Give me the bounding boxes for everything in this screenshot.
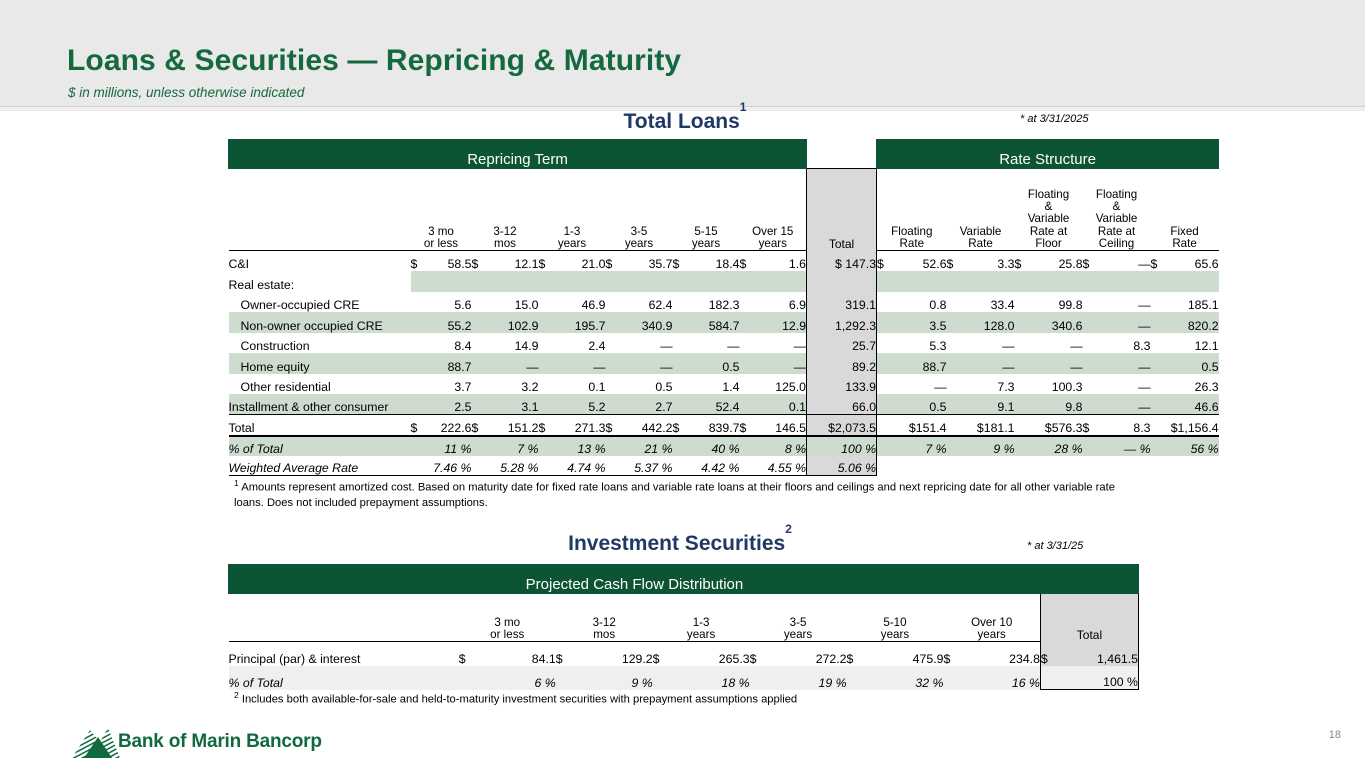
securities-row-label-header xyxy=(229,594,459,642)
row-1-rate-0 xyxy=(889,271,947,292)
row-2-repricing-1: 15.0 xyxy=(484,292,539,313)
loans-col-header-4: 5-15years xyxy=(673,169,740,251)
row-3-rate-3: — xyxy=(1093,312,1151,333)
row-0-currency-0: $ xyxy=(411,251,427,272)
row-5-repricing-4: 0.5 xyxy=(685,353,740,374)
row-2-rate-currency-4 xyxy=(1151,292,1161,313)
row-2-rate-currency-3 xyxy=(1083,292,1093,313)
row-1-repricing-5 xyxy=(752,271,807,292)
row-3-repricing-5: 12.9 xyxy=(752,312,807,333)
loans-war-repricing-2: 4.74 % xyxy=(551,456,606,476)
row-7-rate-2: 9.8 xyxy=(1025,394,1083,415)
row-2-rate-currency-0 xyxy=(877,292,889,313)
table-row: Owner-occupied CRE5.615.046.962.4182.36.… xyxy=(229,292,1219,313)
loans-war-rate-pad-3 xyxy=(1083,456,1093,476)
securities-row-0-total-currency: $ xyxy=(1040,642,1058,666)
loans-war-repricing-4: 4.42 % xyxy=(685,456,740,476)
loans-pct-total: 100 % xyxy=(807,436,877,456)
loans-total-rate-3: 8.3 xyxy=(1093,415,1151,436)
row-6-currency-2 xyxy=(539,374,551,395)
securities-row-1-total-currency xyxy=(1040,666,1058,690)
securities-col-header-3: 3-5years xyxy=(750,594,847,642)
row-6-rate-0: — xyxy=(889,374,947,395)
loans-pct-pad-1 xyxy=(472,436,484,456)
loans-pct-rate-pad-0 xyxy=(877,436,889,456)
row-3-currency-2 xyxy=(539,312,551,333)
row-1-rate-currency-4 xyxy=(1151,271,1161,292)
loans-col-header-5: Over 15years xyxy=(740,169,807,251)
row-7-currency-4 xyxy=(673,394,685,415)
row-7-rate-1: 9.1 xyxy=(957,394,1015,415)
loans-rate-header-2: Floating&VariableRate atFloor xyxy=(1015,169,1083,251)
row-4-rate-1: — xyxy=(957,333,1015,354)
table-row: C&I$58.5$12.1$21.0$35.7$18.4$1.6$ 147.3$… xyxy=(229,251,1219,272)
securities-row-0-value-1: 129.2 xyxy=(580,642,653,666)
row-5-rate-0: 88.7 xyxy=(889,353,947,374)
securities-row-0-currency-4: $ xyxy=(847,642,871,666)
row-label: Real estate: xyxy=(229,271,411,292)
loans-war-total: 5.06 % xyxy=(807,456,877,476)
row-3-repricing-3: 340.9 xyxy=(618,312,673,333)
band-repricing-term: Repricing Term xyxy=(229,140,807,169)
row-0-currency-5: $ xyxy=(740,251,752,272)
row-0-currency-1: $ xyxy=(472,251,484,272)
loans-col-header-1: 3-12mos xyxy=(472,169,539,251)
row-2-rate-3: — xyxy=(1093,292,1151,313)
row-7-repricing-4: 52.4 xyxy=(685,394,740,415)
loans-band-row: Repricing Term Rate Structure xyxy=(229,140,1219,169)
securities-col-header-5: Over 10years xyxy=(943,594,1040,642)
loans-pct-repricing-3: 21 % xyxy=(618,436,673,456)
row-label: Home equity xyxy=(229,353,411,374)
row-5-currency-1 xyxy=(472,353,484,374)
row-3-repricing-2: 195.7 xyxy=(551,312,606,333)
row-3-rate-currency-4 xyxy=(1151,312,1161,333)
row-3-currency-1 xyxy=(472,312,484,333)
loans-total-currency-0: $ xyxy=(411,415,427,436)
row-3-currency-3 xyxy=(606,312,618,333)
securities-row-1-value-4: 32 % xyxy=(871,666,944,690)
securities-row-1-currency-4 xyxy=(847,666,871,690)
row-6-repricing-2: 0.1 xyxy=(551,374,606,395)
row-0-repricing-1: 12.1 xyxy=(484,251,539,272)
row-0-currency-2: $ xyxy=(539,251,551,272)
row-1-rate-currency-2 xyxy=(1015,271,1025,292)
row-6-rate-currency-1 xyxy=(947,374,957,395)
table-row: % of Total6 %9 %18 %19 %32 %16 %100 % xyxy=(229,666,1139,690)
row-1-rate-4 xyxy=(1161,271,1219,292)
row-7-total: 66.0 xyxy=(807,394,877,415)
securities-footnote: 2 Includes both available-for-sale and h… xyxy=(234,690,1144,708)
loans-total-repricing-5: 146.5 xyxy=(752,415,807,436)
row-4-rate-4: 12.1 xyxy=(1161,333,1219,354)
row-7-currency-0 xyxy=(411,394,427,415)
row-label: C&I xyxy=(229,251,411,272)
loans-pct-pad-2 xyxy=(539,436,551,456)
loans-total-rate-currency-3: $ xyxy=(1083,415,1093,436)
row-6-rate-1: 7.3 xyxy=(957,374,1015,395)
row-6-rate-2: 100.3 xyxy=(1025,374,1083,395)
row-3-rate-currency-1 xyxy=(947,312,957,333)
band-projected-cash-flow: Projected Cash Flow Distribution xyxy=(229,565,1041,594)
row-0-rate-currency-1: $ xyxy=(947,251,957,272)
loans-war-repricing-0: 7.46 % xyxy=(427,456,472,476)
row-5-repricing-2: — xyxy=(551,353,606,374)
securities-col-header-0: 3 moor less xyxy=(459,594,556,642)
row-2-rate-4: 185.1 xyxy=(1161,292,1219,313)
row-3-rate-4: 820.2 xyxy=(1161,312,1219,333)
row-3-repricing-0: 55.2 xyxy=(427,312,472,333)
row-3-rate-2: 340.6 xyxy=(1025,312,1083,333)
row-7-currency-1 xyxy=(472,394,484,415)
loans-col-header-0: 3 moor less xyxy=(411,169,472,251)
row-0-currency-3: $ xyxy=(606,251,618,272)
total-loans-title: Total Loans1 xyxy=(585,109,785,134)
securities-row-0-value-0: 84.1 xyxy=(483,642,556,666)
row-5-currency-4 xyxy=(673,353,685,374)
row-5-rate-1: — xyxy=(957,353,1015,374)
loans-pct-repricing-5: 8 % xyxy=(752,436,807,456)
row-2-rate-currency-2 xyxy=(1015,292,1025,313)
row-7-rate-currency-4 xyxy=(1151,394,1161,415)
loans-war-repricing-5: 4.55 % xyxy=(752,456,807,476)
row-3-currency-5 xyxy=(740,312,752,333)
row-5-currency-0 xyxy=(411,353,427,374)
row-0-repricing-0: 58.5 xyxy=(427,251,472,272)
table-row: Real estate: xyxy=(229,271,1219,292)
loans-total-rate-2: $576.3 xyxy=(1025,415,1083,436)
securities-row-1-currency-1 xyxy=(556,666,580,690)
loans-pct-rate-pad-3 xyxy=(1083,436,1093,456)
loans-war-repricing-1: 5.28 % xyxy=(484,456,539,476)
loans-total-rate-currency-0 xyxy=(877,415,889,436)
row-5-rate-currency-2 xyxy=(1015,353,1025,374)
row-label: Non-owner occupied CRE xyxy=(229,312,411,333)
row-3-repricing-1: 102.9 xyxy=(484,312,539,333)
loans-pct-repricing-2: 13 % xyxy=(551,436,606,456)
total-loans-asof: * at 3/31/2025 xyxy=(1020,113,1089,125)
row-5-rate-currency-1 xyxy=(947,353,957,374)
investment-securities-title-text: Investment Securities xyxy=(568,532,785,555)
row-1-total xyxy=(807,271,877,292)
loans-col-header-3: 3-5years xyxy=(606,169,673,251)
securities-footnote-text: Includes both available-for-sale and hel… xyxy=(242,694,797,706)
row-6-rate-3: — xyxy=(1093,374,1151,395)
securities-col-header-4: 5-10years xyxy=(847,594,944,642)
loans-row-label-header xyxy=(229,169,411,251)
loans-war-pad-3 xyxy=(606,456,618,476)
loans-table-body: C&I$58.5$12.1$21.0$35.7$18.4$1.6$ 147.3$… xyxy=(229,251,1219,476)
row-7-rate-3: — xyxy=(1093,394,1151,415)
row-2-repricing-0: 5.6 xyxy=(427,292,472,313)
loans-pct-repricing-1: 7 % xyxy=(484,436,539,456)
row-4-repricing-5: — xyxy=(752,333,807,354)
row-2-currency-5 xyxy=(740,292,752,313)
row-4-rate-3: 8.3 xyxy=(1093,333,1151,354)
row-7-repricing-1: 3.1 xyxy=(484,394,539,415)
securities-col-header-2: 1-3years xyxy=(653,594,750,642)
row-2-currency-2 xyxy=(539,292,551,313)
loans-total-rate-currency-4 xyxy=(1151,415,1161,436)
table-row: Principal (par) & interest$84.1$129.2$26… xyxy=(229,642,1139,666)
band-rate-structure: Rate Structure xyxy=(877,140,1219,169)
row-2-repricing-4: 182.3 xyxy=(685,292,740,313)
loans-pct-label: % of Total xyxy=(229,436,411,456)
row-0-repricing-5: 1.6 xyxy=(752,251,807,272)
row-2-currency-0 xyxy=(411,292,427,313)
page-title: Loans & Securities — Repricing & Maturit… xyxy=(67,44,681,78)
row-5-repricing-1: — xyxy=(484,353,539,374)
loans-total-label: Total xyxy=(229,415,411,436)
row-6-currency-3 xyxy=(606,374,618,395)
loans-war-rate-pad-4 xyxy=(1151,456,1161,476)
securities-row-1-value-3: 19 % xyxy=(774,666,847,690)
row-7-currency-2 xyxy=(539,394,551,415)
row-label: Installment & other consumer xyxy=(229,394,411,415)
row-6-rate-currency-4 xyxy=(1151,374,1161,395)
loans-pct-pad-4 xyxy=(673,436,685,456)
investment-securities-title-superscript: 2 xyxy=(785,522,792,536)
row-4-rate-currency-0 xyxy=(877,333,889,354)
row-5-rate-currency-3 xyxy=(1083,353,1093,374)
row-1-rate-currency-0 xyxy=(877,271,889,292)
row-6-repricing-5: 125.0 xyxy=(752,374,807,395)
securities-row-1-label: % of Total xyxy=(229,666,459,690)
investment-securities-table: Projected Cash Flow Distribution 3 moor … xyxy=(228,564,1139,690)
row-4-currency-1 xyxy=(472,333,484,354)
securities-row-1-value-0: 6 % xyxy=(483,666,556,690)
loans-total-rate-0: $151.4 xyxy=(889,415,947,436)
securities-row-1-value-5: 16 % xyxy=(968,666,1041,690)
loans-total-row: Total$222.6$151.2$271.3$442.2$839.7$146.… xyxy=(229,415,1219,436)
loans-total-rate-currency-1 xyxy=(947,415,957,436)
loans-war-rate-pad-1 xyxy=(947,456,957,476)
row-0-rate-3: — xyxy=(1093,251,1151,272)
loans-war-rate-4 xyxy=(1161,456,1219,476)
row-2-rate-currency-1 xyxy=(947,292,957,313)
securities-row-0-currency-3: $ xyxy=(750,642,774,666)
row-0-rate-4: 65.6 xyxy=(1161,251,1219,272)
securities-footnote-superscript: 2 xyxy=(234,690,239,700)
row-7-repricing-5: 0.1 xyxy=(752,394,807,415)
row-7-currency-5 xyxy=(740,394,752,415)
row-4-currency-5 xyxy=(740,333,752,354)
row-2-total: 319.1 xyxy=(807,292,877,313)
securities-row-0-currency-5: $ xyxy=(943,642,967,666)
page-number: 18 xyxy=(1329,729,1341,741)
loans-war-rate-2 xyxy=(1025,456,1083,476)
loans-war-pad-1 xyxy=(472,456,484,476)
loans-war-rate-3 xyxy=(1093,456,1151,476)
row-5-repricing-3: — xyxy=(618,353,673,374)
row-7-rate-4: 46.6 xyxy=(1161,394,1219,415)
row-3-rate-0: 3.5 xyxy=(889,312,947,333)
page-subtitle: $ in millions, unless otherwise indicate… xyxy=(68,85,304,100)
row-5-currency-2 xyxy=(539,353,551,374)
row-7-repricing-2: 5.2 xyxy=(551,394,606,415)
row-0-rate-0: 52.6 xyxy=(889,251,947,272)
row-label: Other residential xyxy=(229,374,411,395)
investment-securities-title: Investment Securities2 xyxy=(530,531,830,556)
row-5-repricing-0: 88.7 xyxy=(427,353,472,374)
row-1-rate-3 xyxy=(1093,271,1151,292)
row-4-repricing-1: 14.9 xyxy=(484,333,539,354)
row-0-rate-currency-0: $ xyxy=(877,251,889,272)
row-1-repricing-2 xyxy=(551,271,606,292)
row-2-repricing-5: 6.9 xyxy=(752,292,807,313)
securities-row-1-currency-5 xyxy=(943,666,967,690)
table-row: Home equity88.7———0.5—89.288.7———0.5 xyxy=(229,353,1219,374)
loans-rate-header-4: FixedRate xyxy=(1151,169,1219,251)
loans-pct-row: % of Total11 %7 %13 %21 %40 %8 %100 %7 %… xyxy=(229,436,1219,456)
row-1-repricing-0 xyxy=(427,271,472,292)
loans-total-currency-2: $ xyxy=(539,415,551,436)
band-projected-cash-flow-right xyxy=(1040,565,1138,594)
row-0-repricing-4: 18.4 xyxy=(685,251,740,272)
securities-col-header-1: 3-12mos xyxy=(556,594,653,642)
row-2-rate-2: 99.8 xyxy=(1025,292,1083,313)
loans-pct-rate-pad-4 xyxy=(1151,436,1161,456)
row-2-currency-4 xyxy=(673,292,685,313)
loans-pct-rate-2: 28 % xyxy=(1025,436,1083,456)
investment-securities-asof: * at 3/31/25 xyxy=(1027,540,1083,552)
loans-pct-rate-1: 9 % xyxy=(957,436,1015,456)
loans-footnote-superscript: 1 xyxy=(234,478,239,488)
loans-war-pad-5 xyxy=(740,456,752,476)
securities-total-header: Total xyxy=(1040,594,1138,642)
row-6-rate-currency-2 xyxy=(1015,374,1025,395)
loans-grand-total: $2,073.5 xyxy=(807,415,877,436)
row-6-rate-currency-3 xyxy=(1083,374,1093,395)
row-7-rate-currency-2 xyxy=(1015,394,1025,415)
row-2-currency-3 xyxy=(606,292,618,313)
loans-war-label: Weighted Average Rate xyxy=(229,456,411,476)
row-4-currency-0 xyxy=(411,333,427,354)
securities-row-1-total: 100 % xyxy=(1059,666,1139,690)
loans-total-header: Total xyxy=(807,169,877,251)
loans-pct-rate-pad-1 xyxy=(947,436,957,456)
loans-footnote: 1 Amounts represent amortized cost. Base… xyxy=(234,478,1144,511)
securities-row-1-value-1: 9 % xyxy=(580,666,653,690)
row-0-rate-currency-2: $ xyxy=(1015,251,1025,272)
row-2-rate-0: 0.8 xyxy=(889,292,947,313)
securities-row-0-value-5: 234.8 xyxy=(968,642,1041,666)
loans-column-header-row: 3 moor less 3-12mos 1-3years 3-5years 5-… xyxy=(229,169,1219,251)
row-7-rate-0: 0.5 xyxy=(889,394,947,415)
row-1-rate-2 xyxy=(1025,271,1083,292)
row-4-repricing-0: 8.4 xyxy=(427,333,472,354)
row-1-repricing-3 xyxy=(618,271,673,292)
loans-total-repricing-0: 222.6 xyxy=(427,415,472,436)
row-4-rate-currency-2 xyxy=(1015,333,1025,354)
securities-row-1-currency-2 xyxy=(653,666,677,690)
row-label: Construction xyxy=(229,333,411,354)
row-4-rate-0: 5.3 xyxy=(889,333,947,354)
row-4-total: 25.7 xyxy=(807,333,877,354)
brand-wordmark: Bank of Marin Bancorp xyxy=(118,731,322,753)
total-loans-title-superscript: 1 xyxy=(740,100,747,114)
row-6-rate-4: 26.3 xyxy=(1161,374,1219,395)
row-5-rate-2: — xyxy=(1025,353,1083,374)
row-0-rate-2: 25.8 xyxy=(1025,251,1083,272)
row-6-currency-5 xyxy=(740,374,752,395)
loans-pct-pad-0 xyxy=(411,436,427,456)
loans-pct-pad-3 xyxy=(606,436,618,456)
table-row: Other residential3.73.20.10.51.4125.0133… xyxy=(229,374,1219,395)
row-7-repricing-0: 2.5 xyxy=(427,394,472,415)
row-6-repricing-0: 3.7 xyxy=(427,374,472,395)
row-7-currency-3 xyxy=(606,394,618,415)
loans-total-repricing-3: 442.2 xyxy=(618,415,673,436)
row-4-repricing-4: — xyxy=(685,333,740,354)
loans-war-repricing-3: 5.37 % xyxy=(618,456,673,476)
loans-pct-repricing-4: 40 % xyxy=(685,436,740,456)
loans-pct-rate-pad-2 xyxy=(1015,436,1025,456)
row-5-total: 89.2 xyxy=(807,353,877,374)
row-2-currency-1 xyxy=(472,292,484,313)
row-1-rate-1 xyxy=(957,271,1015,292)
row-4-currency-3 xyxy=(606,333,618,354)
row-5-currency-5 xyxy=(740,353,752,374)
securities-table-body: Principal (par) & interest$84.1$129.2$26… xyxy=(229,642,1139,690)
table-row: Construction8.414.92.4———25.75.3——8.312.… xyxy=(229,333,1219,354)
loans-pct-rate-0: 7 % xyxy=(889,436,947,456)
row-6-currency-4 xyxy=(673,374,685,395)
securities-row-1-currency-0 xyxy=(459,666,483,690)
row-1-currency-3 xyxy=(606,271,618,292)
securities-row-0-currency-0: $ xyxy=(459,642,483,666)
loans-pct-pad-5 xyxy=(740,436,752,456)
row-5-rate-currency-0 xyxy=(877,353,889,374)
row-0-total: $ 147.3 xyxy=(807,251,877,272)
row-2-repricing-2: 46.9 xyxy=(551,292,606,313)
row-3-total: 1,292.3 xyxy=(807,312,877,333)
loans-rate-header-1: VariableRate xyxy=(947,169,1015,251)
loans-total-currency-3: $ xyxy=(606,415,618,436)
row-1-currency-0 xyxy=(411,271,427,292)
row-0-rate-currency-3: $ xyxy=(1083,251,1093,272)
row-6-currency-1 xyxy=(472,374,484,395)
row-3-rate-currency-3 xyxy=(1083,312,1093,333)
row-5-repricing-5: — xyxy=(752,353,807,374)
row-3-currency-4 xyxy=(673,312,685,333)
row-2-repricing-3: 62.4 xyxy=(618,292,673,313)
loans-war-row: Weighted Average Rate7.46 %5.28 %4.74 %5… xyxy=(229,456,1219,476)
row-6-total: 133.9 xyxy=(807,374,877,395)
row-0-currency-4: $ xyxy=(673,251,685,272)
row-5-rate-currency-4 xyxy=(1151,353,1161,374)
securities-row-1-currency-3 xyxy=(750,666,774,690)
row-0-repricing-2: 21.0 xyxy=(551,251,606,272)
loans-pct-rate-3: — % xyxy=(1093,436,1151,456)
row-6-repricing-1: 3.2 xyxy=(484,374,539,395)
loans-pct-rate-4: 56 % xyxy=(1161,436,1219,456)
row-6-currency-0 xyxy=(411,374,427,395)
securities-column-header-row: 3 moor less 3-12mos 1-3years 3-5years 5-… xyxy=(229,594,1139,642)
loans-footnote-text: Amounts represent amortized cost. Based … xyxy=(234,482,1115,509)
row-label: Owner-occupied CRE xyxy=(229,292,411,313)
row-3-repricing-4: 584.7 xyxy=(685,312,740,333)
loans-col-header-2: 1-3years xyxy=(539,169,606,251)
row-3-currency-0 xyxy=(411,312,427,333)
row-1-rate-currency-1 xyxy=(947,271,957,292)
table-row: Non-owner occupied CRE55.2102.9195.7340.… xyxy=(229,312,1219,333)
row-1-currency-2 xyxy=(539,271,551,292)
loans-war-rate-0 xyxy=(889,456,947,476)
row-7-rate-currency-1 xyxy=(947,394,957,415)
loans-rate-header-0: FloatingRate xyxy=(877,169,947,251)
row-6-repricing-3: 0.5 xyxy=(618,374,673,395)
